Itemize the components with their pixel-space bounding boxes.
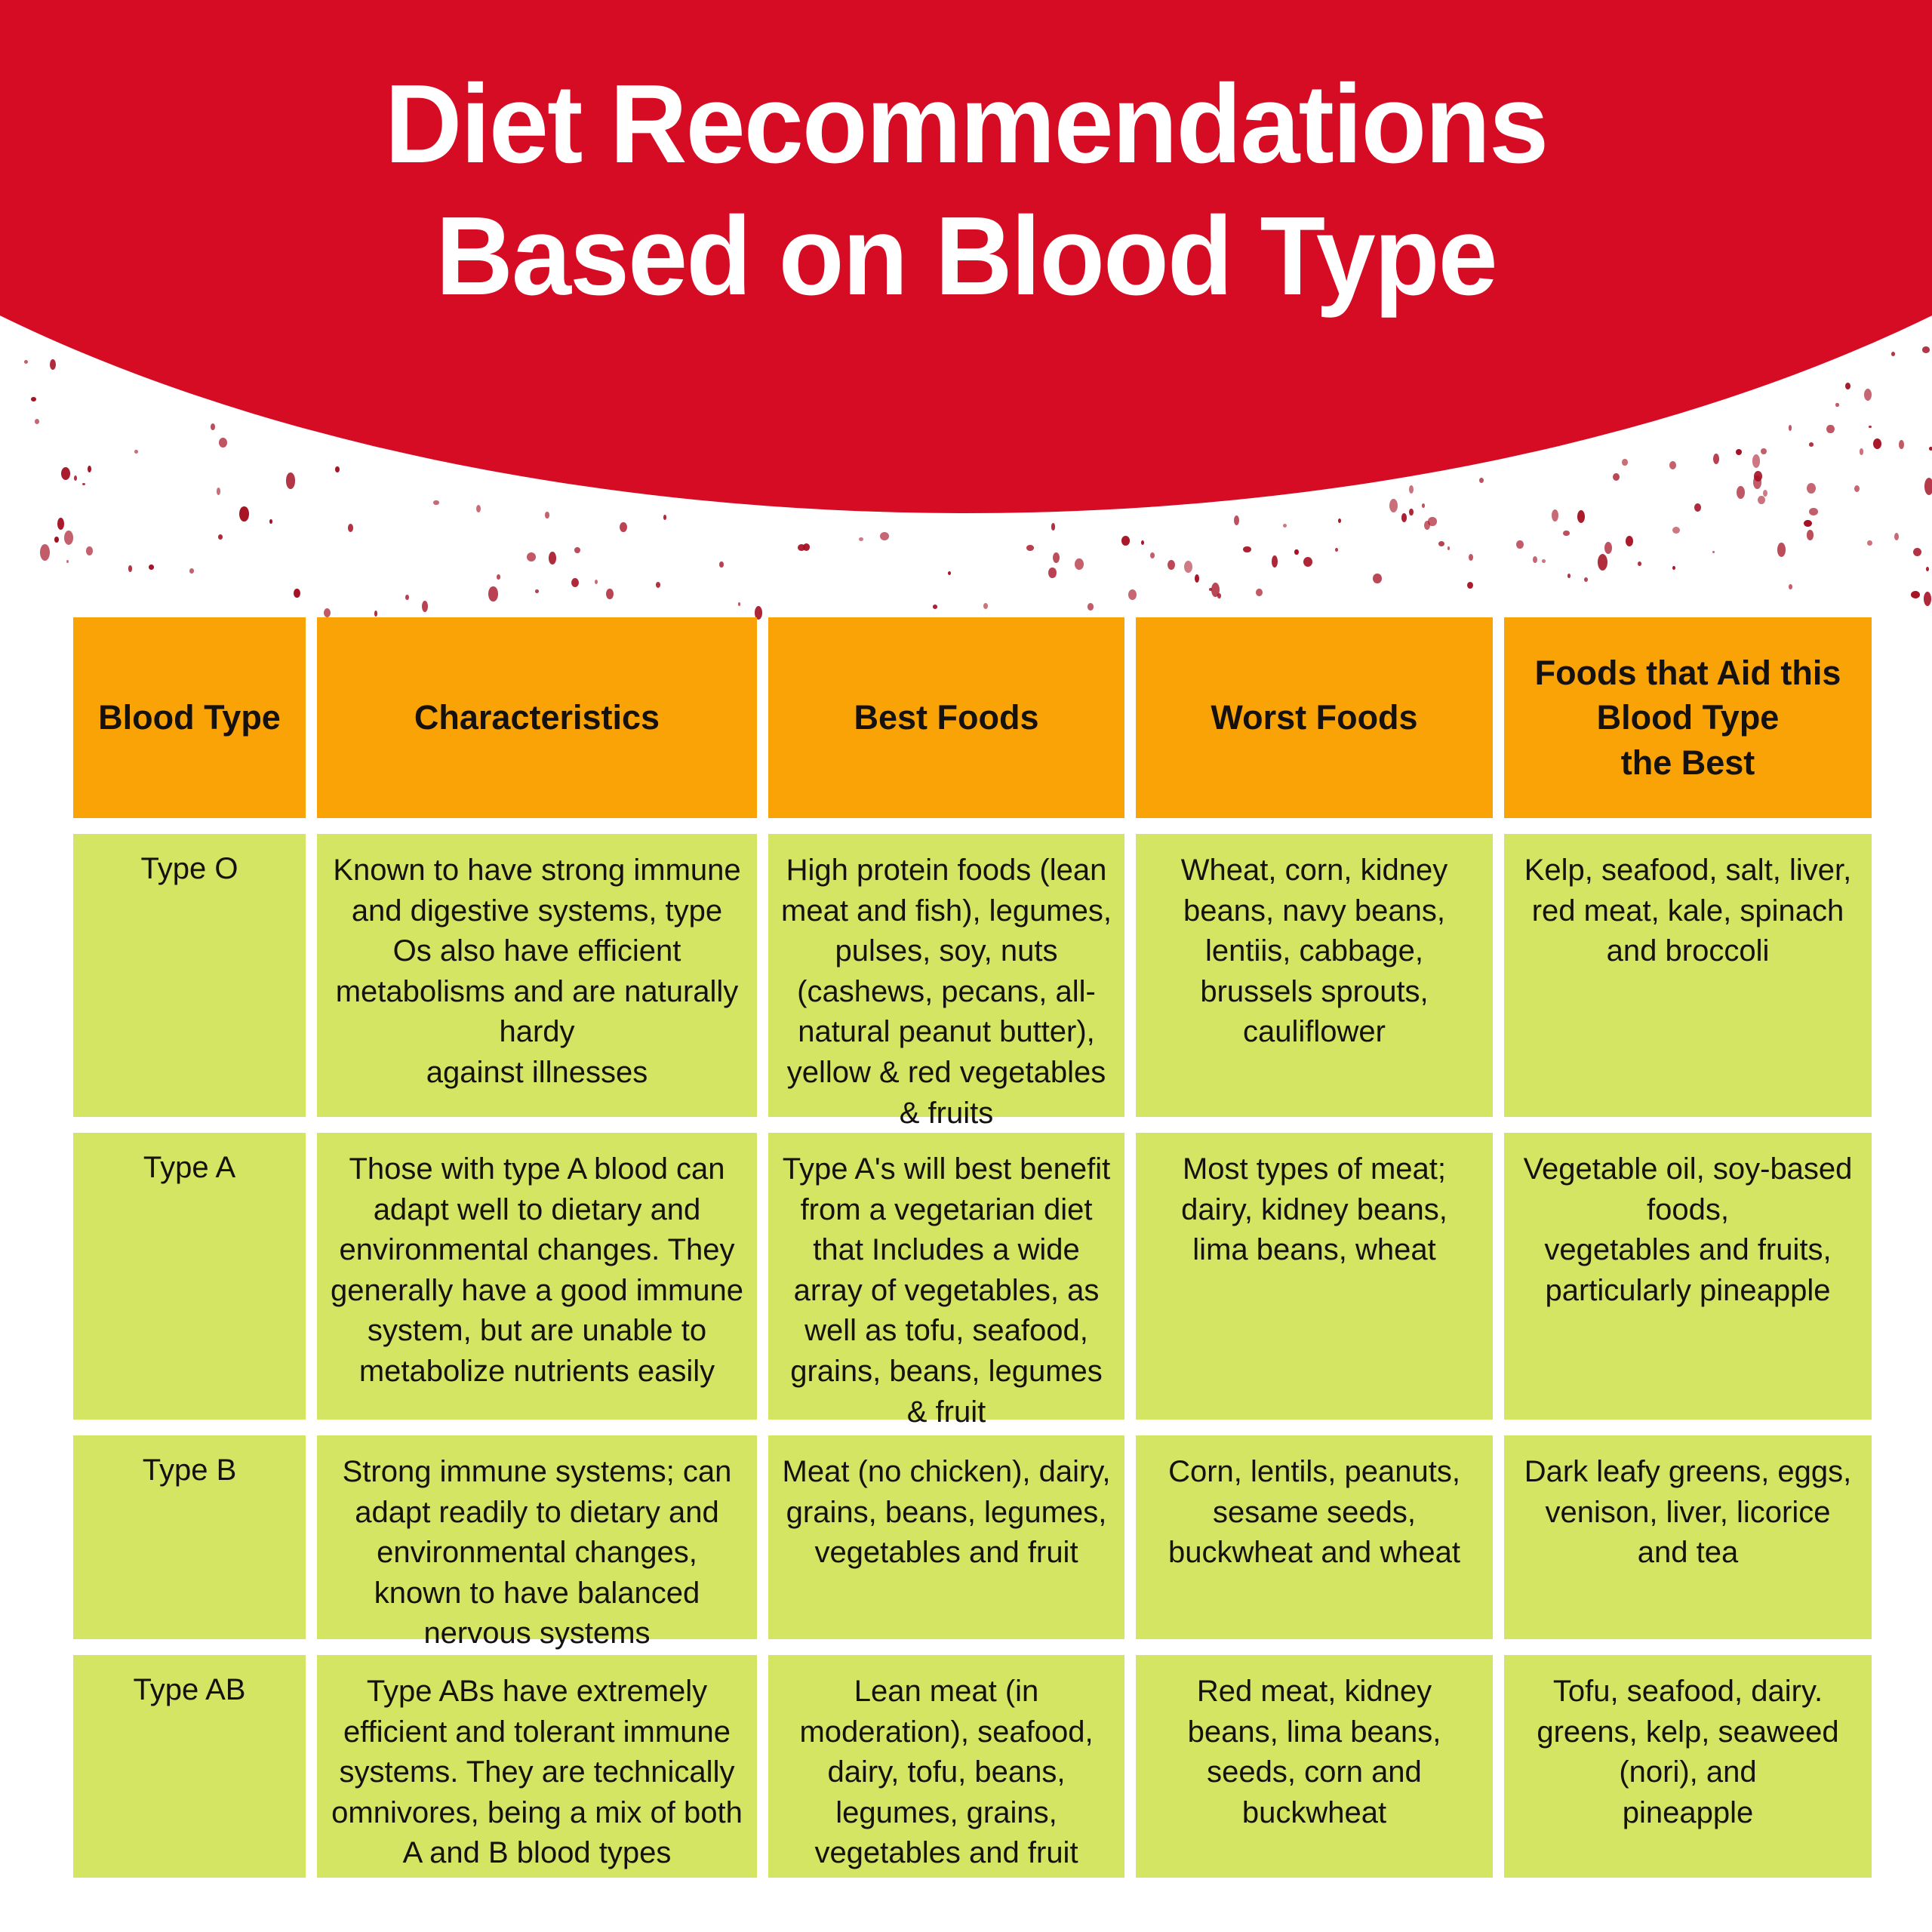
speckle-dot bbox=[859, 537, 863, 542]
speckle-dot bbox=[1777, 543, 1786, 556]
cell-best-foods: Type A's will best benefit from a vegeta… bbox=[768, 1133, 1124, 1420]
speckle-dot bbox=[488, 586, 498, 601]
speckle-dot bbox=[433, 500, 438, 506]
speckle-dot bbox=[1911, 591, 1920, 598]
speckle-dot bbox=[286, 472, 296, 489]
speckle-dot bbox=[1424, 521, 1430, 530]
cell-aid-foods: Vegetable oil, soy-based foods, vegetabl… bbox=[1504, 1133, 1872, 1420]
cell-characteristics: Those with type A blood can adapt well t… bbox=[317, 1133, 757, 1420]
speckle-dot bbox=[1577, 510, 1585, 523]
speckle-dot bbox=[294, 589, 300, 598]
speckle-dot bbox=[54, 537, 60, 543]
speckle-dot bbox=[1234, 515, 1239, 525]
speckle-dot bbox=[1184, 561, 1192, 573]
speckle-dot bbox=[1758, 496, 1765, 504]
cell-blood-type: Type O bbox=[73, 834, 306, 1117]
speckle-dot bbox=[983, 603, 988, 609]
speckle-dot bbox=[549, 552, 556, 565]
speckle-dot bbox=[1128, 589, 1137, 600]
speckle-dot bbox=[1121, 536, 1130, 546]
speckle-dot bbox=[1924, 478, 1932, 496]
speckle-dot bbox=[24, 360, 28, 364]
speckle-dot bbox=[1053, 552, 1060, 563]
speckle-dot bbox=[1211, 583, 1220, 598]
speckle-dot bbox=[1563, 531, 1570, 537]
speckle-dot bbox=[606, 589, 614, 600]
column-header-blood-type: Blood Type bbox=[73, 617, 306, 818]
speckle-dot bbox=[1626, 536, 1633, 546]
speckle-dot bbox=[1712, 551, 1715, 553]
speckle-dot bbox=[1860, 448, 1864, 455]
speckle-dot bbox=[134, 450, 138, 454]
speckle-dot bbox=[1552, 509, 1558, 521]
speckle-dot bbox=[149, 565, 154, 570]
speckle-dot bbox=[1088, 603, 1094, 611]
speckle-dot bbox=[1864, 389, 1872, 401]
speckle-dot bbox=[1613, 473, 1620, 481]
speckle-dot bbox=[1754, 471, 1762, 481]
speckle-dot bbox=[803, 543, 810, 551]
speckle-dot bbox=[1026, 545, 1034, 551]
table-row: Type O Known to have strong immune and d… bbox=[73, 834, 1874, 1117]
speckle-dot bbox=[324, 608, 331, 617]
speckle-dot bbox=[595, 580, 598, 584]
speckle-dot bbox=[1669, 461, 1676, 469]
cell-worst-foods: Most types of meat; dairy, kidney beans,… bbox=[1136, 1133, 1493, 1420]
speckle-dot bbox=[1567, 574, 1571, 578]
speckle-dot bbox=[1422, 503, 1426, 508]
speckle-dot bbox=[620, 522, 627, 532]
speckle-dot bbox=[1604, 542, 1612, 554]
speckle-dot bbox=[574, 547, 580, 553]
speckle-dot bbox=[1389, 499, 1398, 512]
speckle-dot bbox=[1694, 503, 1701, 512]
speckle-dot bbox=[1209, 588, 1213, 592]
speckle-dot bbox=[1409, 485, 1414, 494]
speckle-dot bbox=[128, 565, 133, 572]
speckle-dot bbox=[738, 602, 740, 606]
speckle-dot bbox=[1913, 548, 1921, 556]
speckle-dot bbox=[1584, 577, 1588, 582]
speckle-dot bbox=[1272, 555, 1278, 568]
speckle-dot bbox=[1467, 582, 1473, 589]
speckle-dot bbox=[880, 532, 889, 540]
speckle-dot bbox=[1809, 442, 1814, 447]
red-hero-arc bbox=[0, 0, 1932, 513]
table-row: Type AB Type ABs have extremely efficien… bbox=[73, 1655, 1874, 1878]
speckle-dot bbox=[1283, 524, 1287, 528]
speckle-dot bbox=[1335, 548, 1338, 552]
speckle-dot bbox=[1761, 448, 1767, 455]
speckle-dot bbox=[1894, 533, 1899, 540]
cell-worst-foods: Wheat, corn, kidney beans, navy beans, l… bbox=[1136, 834, 1493, 1117]
blood-type-diet-table: Blood Type Characteristics Best Foods Wo… bbox=[73, 617, 1874, 1878]
speckle-dot bbox=[1622, 459, 1627, 466]
speckle-dot bbox=[1672, 566, 1675, 570]
speckle-dot bbox=[1807, 530, 1814, 540]
speckle-dot bbox=[1922, 346, 1930, 353]
speckle-dot bbox=[1048, 568, 1056, 578]
column-header-worst-foods: Worst Foods bbox=[1136, 617, 1493, 818]
speckle-dot bbox=[1256, 589, 1263, 597]
cell-best-foods: Lean meat (in moderation), seafood, dair… bbox=[768, 1655, 1124, 1878]
speckle-dot bbox=[218, 534, 223, 540]
speckle-dot bbox=[1195, 574, 1199, 583]
speckle-dot bbox=[1789, 425, 1792, 430]
speckle-dot bbox=[1672, 527, 1680, 534]
speckle-dot bbox=[57, 518, 64, 530]
speckle-dot bbox=[1447, 546, 1450, 550]
cell-characteristics: Strong immune systems; can adapt readily… bbox=[317, 1435, 757, 1639]
speckle-dot bbox=[61, 467, 70, 480]
cell-worst-foods: Red meat, kidney beans, lima beans, seed… bbox=[1136, 1655, 1493, 1878]
speckle-dot bbox=[74, 475, 77, 481]
cell-blood-type: Type B bbox=[73, 1435, 306, 1639]
speckle-dot bbox=[1303, 557, 1312, 567]
speckle-dot bbox=[1752, 454, 1761, 468]
speckle-dot bbox=[1150, 552, 1155, 558]
table-row: Type A Those with type A blood can adapt… bbox=[73, 1133, 1874, 1420]
cell-blood-type: Type AB bbox=[73, 1655, 306, 1878]
speckle-dot bbox=[1338, 518, 1341, 523]
speckle-dot bbox=[66, 560, 69, 563]
speckle-dot bbox=[217, 488, 221, 495]
cell-aid-foods: Kelp, seafood, salt, liver, red meat, ka… bbox=[1504, 834, 1872, 1117]
speckle-dot bbox=[1294, 549, 1299, 555]
cell-worst-foods: Corn, lentils, peanuts, sesame seeds, bu… bbox=[1136, 1435, 1493, 1639]
speckle-dot bbox=[1926, 567, 1929, 571]
cell-aid-foods: Tofu, seafood, dairy. greens, kelp, seaw… bbox=[1504, 1655, 1872, 1878]
speckle-dot bbox=[1051, 523, 1056, 531]
speckle-dot bbox=[1737, 486, 1745, 499]
speckle-dot bbox=[1873, 438, 1881, 449]
speckle-dot bbox=[535, 589, 539, 593]
cell-characteristics: Known to have strong immune and digestiv… bbox=[317, 834, 757, 1117]
speckle-dot bbox=[335, 466, 340, 472]
speckle-dot bbox=[1638, 561, 1641, 566]
speckle-dot bbox=[663, 515, 667, 520]
speckle-dot bbox=[50, 359, 56, 370]
speckle-dot bbox=[1141, 540, 1145, 546]
speckle-dot bbox=[1929, 447, 1932, 451]
speckle-dot bbox=[1217, 593, 1222, 598]
column-header-best-foods: Best Foods bbox=[768, 617, 1124, 818]
speckle-dot bbox=[545, 512, 549, 518]
table-header-row: Blood Type Characteristics Best Foods Wo… bbox=[73, 617, 1874, 818]
speckle-dot bbox=[211, 423, 215, 430]
speckle-dot bbox=[348, 524, 354, 532]
speckle-dot bbox=[1598, 554, 1607, 571]
speckle-dot bbox=[1542, 559, 1546, 563]
speckle-dot bbox=[1075, 558, 1084, 570]
speckle-dot bbox=[88, 466, 91, 473]
speckle-dot bbox=[1753, 475, 1761, 489]
cell-characteristics: Type ABs have extremely efficient and to… bbox=[317, 1655, 757, 1878]
speckle-dot bbox=[571, 578, 579, 587]
speckle-dot bbox=[1854, 485, 1860, 492]
speckle-dot bbox=[374, 611, 378, 617]
speckle-dot bbox=[40, 544, 50, 560]
cell-best-foods: High protein foods (lean meat and fish),… bbox=[768, 834, 1124, 1117]
speckle-dot bbox=[1533, 556, 1537, 563]
column-header-aid-foods: Foods that Aid this Blood Type the Best bbox=[1504, 617, 1872, 818]
cell-best-foods: Meat (no chicken), dairy, grains, beans,… bbox=[768, 1435, 1124, 1639]
speckle-dot bbox=[1438, 541, 1444, 546]
speckle-dot bbox=[189, 568, 194, 574]
speckle-dot bbox=[1789, 584, 1792, 590]
speckle-dot bbox=[1373, 574, 1382, 584]
cell-aid-foods: Dark leafy greens, eggs, venison, liver,… bbox=[1504, 1435, 1872, 1639]
table-row: Type B Strong immune systems; can adapt … bbox=[73, 1435, 1874, 1639]
speckle-dot bbox=[1891, 352, 1895, 356]
speckle-dot bbox=[1899, 440, 1904, 449]
speckle-dot bbox=[1763, 490, 1767, 497]
speckle-dot bbox=[64, 531, 73, 545]
speckle-dot bbox=[35, 419, 40, 424]
speckle-dot bbox=[1835, 403, 1838, 407]
speckle-dot bbox=[1807, 483, 1816, 494]
speckle-dot bbox=[1869, 426, 1871, 428]
speckle-dot bbox=[86, 546, 94, 555]
speckle-dot bbox=[31, 397, 36, 401]
speckle-dot bbox=[948, 571, 952, 576]
speckle-dot bbox=[422, 601, 428, 612]
speckle-dot bbox=[82, 483, 86, 486]
column-header-characteristics: Characteristics bbox=[317, 617, 757, 818]
speckle-dot bbox=[719, 561, 724, 568]
speckle-dot bbox=[269, 519, 272, 524]
cell-blood-type: Type A bbox=[73, 1133, 306, 1420]
speckle-dot bbox=[1409, 509, 1413, 515]
speckle-dot bbox=[1168, 560, 1175, 570]
speckle-dot bbox=[933, 605, 938, 609]
speckle-dot bbox=[1804, 520, 1811, 527]
speckle-dot bbox=[1713, 454, 1719, 464]
speckle-dot bbox=[219, 438, 227, 448]
speckle-dot bbox=[1736, 449, 1742, 455]
speckle-dot bbox=[1809, 508, 1818, 516]
speckle-dot bbox=[405, 595, 409, 600]
speckle-dot bbox=[1867, 540, 1872, 546]
speckle-dot bbox=[1401, 513, 1407, 522]
speckle-dot bbox=[1924, 592, 1931, 606]
speckle-dot bbox=[1479, 478, 1484, 483]
speckle-dot bbox=[1469, 554, 1473, 561]
speckle-dot bbox=[798, 544, 805, 551]
speckle-dot bbox=[527, 552, 536, 561]
speckle-dot bbox=[1516, 540, 1524, 549]
speckle-dot bbox=[1826, 425, 1835, 434]
speckle-dot bbox=[1428, 517, 1437, 525]
speckle-dot bbox=[476, 505, 481, 512]
speckle-dot bbox=[497, 574, 500, 580]
speckle-dot bbox=[1243, 546, 1251, 553]
speckle-dot bbox=[239, 506, 249, 522]
speckle-dot bbox=[656, 582, 661, 588]
speckle-dot bbox=[1845, 383, 1850, 389]
